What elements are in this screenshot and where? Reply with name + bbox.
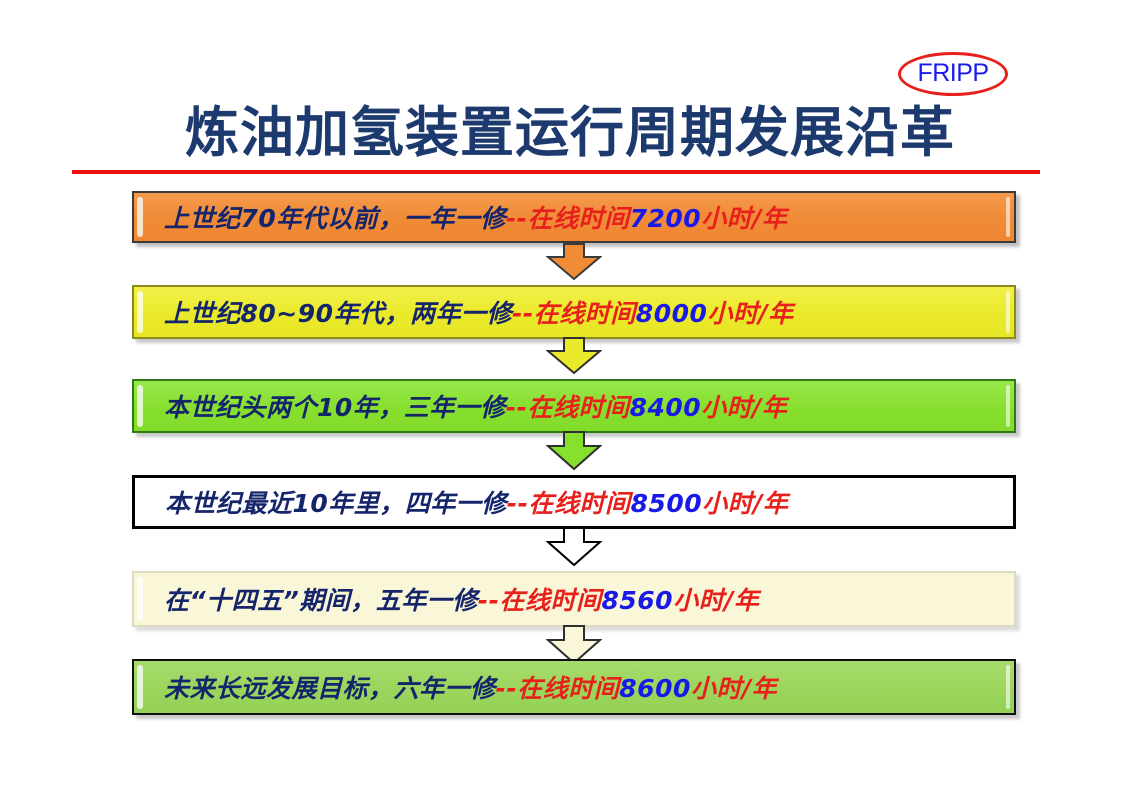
title-area: 炼油加氢装置运行周期发展沿革 FRIPP [0,0,1122,185]
flow-row-1: 上世纪70年代以前，一年一修--在线时间7200小时/年 [132,191,1016,243]
flow-arrow-2 [546,337,602,375]
flow-arrow-3 [546,431,602,471]
flow-box-3[interactable]: 本世纪头两个10年，三年一修--在线时间8400小时/年 [132,379,1016,433]
flow-box-6[interactable]: 未来长远发展目标，六年一修--在线时间8600小时/年 [132,659,1016,715]
flow-box-3-hours: 8400 [630,393,702,422]
flow-box-4[interactable]: 本世纪最近10年里，四年一修--在线时间8500小时/年 [132,475,1016,529]
flow-box-5-hours: 8560 [601,586,673,615]
flow-box-5-label: 在“十四五”期间，五年一修--在线时间8560小时/年 [134,581,759,617]
flow-box-3-period: 本世纪头两个10年，三年一修 [164,393,506,422]
flow-box-6-separator: --在线时间 [496,674,620,703]
flow-box-2-hours: 8000 [636,299,708,328]
flow-box-1-label: 上世纪70年代以前，一年一修--在线时间7200小时/年 [134,199,787,235]
process-flow-diagram: 上世纪70年代以前，一年一修--在线时间7200小时/年 上世纪80~90年代，… [0,185,1122,755]
flow-row-4: 本世纪最近10年里，四年一修--在线时间8500小时/年 [132,475,1016,529]
flow-box-1-period: 上世纪70年代以前，一年一修 [164,204,506,233]
flow-arrow-1 [546,243,602,281]
box-highlight-right-icon [1006,385,1010,427]
flow-box-1-hours: 7200 [630,204,702,233]
flow-box-2-unit: 小时/年 [707,299,793,328]
flow-row-5: 在“十四五”期间，五年一修--在线时间8560小时/年 [132,571,1016,627]
box-highlight-right-icon [1006,665,1010,709]
flow-box-2-period: 上世纪80~90年代，两年一修 [164,299,512,328]
page-title: 炼油加氢装置运行周期发展沿革 [130,88,1010,167]
flow-box-3-unit: 小时/年 [701,393,787,422]
flow-row-6: 未来长远发展目标，六年一修--在线时间8600小时/年 [132,659,1016,715]
flow-row-3: 本世纪头两个10年，三年一修--在线时间8400小时/年 [132,379,1016,433]
flow-box-1-separator: --在线时间 [506,204,630,233]
flow-box-5-unit: 小时/年 [673,586,759,615]
flow-box-5-period: 在“十四五”期间，五年一修 [164,586,478,615]
flow-box-2-label: 上世纪80~90年代，两年一修--在线时间8000小时/年 [134,294,794,330]
flow-box-3-separator: --在线时间 [506,393,630,422]
flow-box-4-hours: 8500 [631,489,703,518]
flow-arrow-4 [546,527,602,567]
flow-box-5-separator: --在线时间 [478,586,602,615]
flow-box-4-label: 本世纪最近10年里，四年一修--在线时间8500小时/年 [135,484,788,520]
flow-box-2-separator: --在线时间 [512,299,636,328]
flow-box-1[interactable]: 上世纪70年代以前，一年一修--在线时间7200小时/年 [132,191,1016,243]
flow-box-6-hours: 8600 [619,674,691,703]
flow-row-2: 上世纪80~90年代，两年一修--在线时间8000小时/年 [132,285,1016,339]
fripp-logo: FRIPP [898,52,1014,102]
flow-box-3-label: 本世纪头两个10年，三年一修--在线时间8400小时/年 [134,388,787,424]
title-underline-rule [72,170,1040,174]
flow-box-4-separator: --在线时间 [507,489,631,518]
flow-box-5[interactable]: 在“十四五”期间，五年一修--在线时间8560小时/年 [132,571,1016,627]
logo-text: FRIPP [898,52,1008,96]
box-highlight-right-icon [1006,197,1010,237]
flow-box-1-unit: 小时/年 [701,204,787,233]
flow-box-2[interactable]: 上世纪80~90年代，两年一修--在线时间8000小时/年 [132,285,1016,339]
flow-box-4-period: 本世纪最近10年里，四年一修 [165,489,507,518]
flow-box-6-period: 未来长远发展目标，六年一修 [164,674,496,703]
flow-box-6-label: 未来长远发展目标，六年一修--在线时间8600小时/年 [134,669,777,705]
flow-box-6-unit: 小时/年 [691,674,777,703]
flow-box-4-unit: 小时/年 [702,489,788,518]
box-highlight-right-icon [1006,291,1010,333]
